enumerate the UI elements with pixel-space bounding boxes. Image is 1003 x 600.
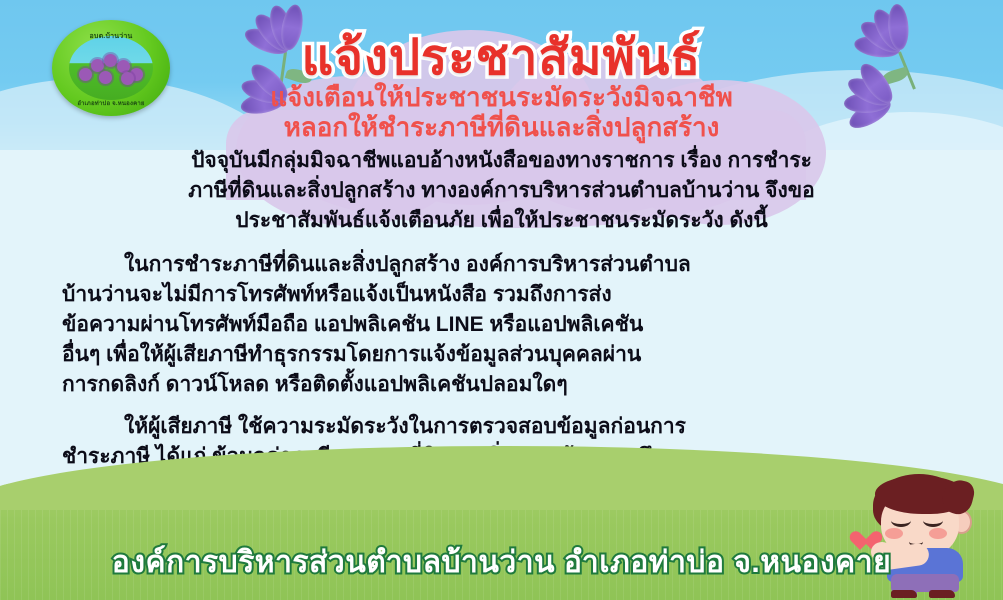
paragraph-2: ในการชำระภาษีที่ดินและสิ่งปลูกสร้าง องค์…	[0, 250, 1003, 400]
paragraph-1-line-1: ปัจจุบันมีกลุ่มมิจฉาชีพแอบอ้างหนังสือของ…	[34, 146, 969, 176]
paragraph-2-line-4: อื่นๆ เพื่อให้ผู้เสียภาษีทำธุรกรรมโดยการ…	[62, 340, 963, 370]
paragraph-2-line-1: ในการชำระภาษีที่ดินและสิ่งปลูกสร้าง องค์…	[62, 250, 963, 280]
paragraph-2-line-2: บ้านว่านจะไม่มีการโทรศัพท์หรือแจ้งเป็นหน…	[62, 280, 963, 310]
poster-subtitle: แจ้งเตือนให้ประชาชนระมัดระวังมิจฉาชีพ หล…	[0, 82, 1003, 142]
footer-organization-name: องค์การบริหารส่วนตำบลบ้านว่าน อำเภอท่าบ่…	[0, 539, 1003, 586]
paragraph-1: ปัจจุบันมีกลุ่มมิจฉาชีพแอบอ้างหนังสือของ…	[0, 146, 1003, 236]
paragraph-2-line-5: การกดลิงก์ ดาวน์โหลด หรือติดตั้งแอปพลิเค…	[62, 370, 963, 400]
paragraph-1-line-3: ประชาสัมพันธ์แจ้งเตือนภัย เพื่อให้ประชาช…	[34, 206, 969, 236]
paragraph-2-line-3: ข้อความผ่านโทรศัพท์มือถือ แอปพลิเคชัน LI…	[62, 310, 963, 340]
paragraph-1-line-2: ภาษีที่ดินและสิ่งปลูกสร้าง ทางองค์การบริ…	[34, 176, 969, 206]
paragraph-3-line-1: ให้ผู้เสียภาษี ใช้ความระมัดระวังในการตรว…	[62, 412, 963, 442]
subtitle-line-1: แจ้งเตือนให้ประชาชนระมัดระวังมิจฉาชีพ	[0, 82, 1003, 112]
subtitle-line-2: หลอกให้ชำระภาษีที่ดินและสิ่งปลูกสร้าง	[0, 112, 1003, 142]
poster-body: ปัจจุบันมีกลุ่มมิจฉาชีพแอบอ้างหนังสือของ…	[0, 146, 1003, 486]
announcement-poster: อบต.บ้านว่าน อำเภอท่าบ่อ จ.หนองคาย แจ้งป…	[0, 0, 1003, 600]
